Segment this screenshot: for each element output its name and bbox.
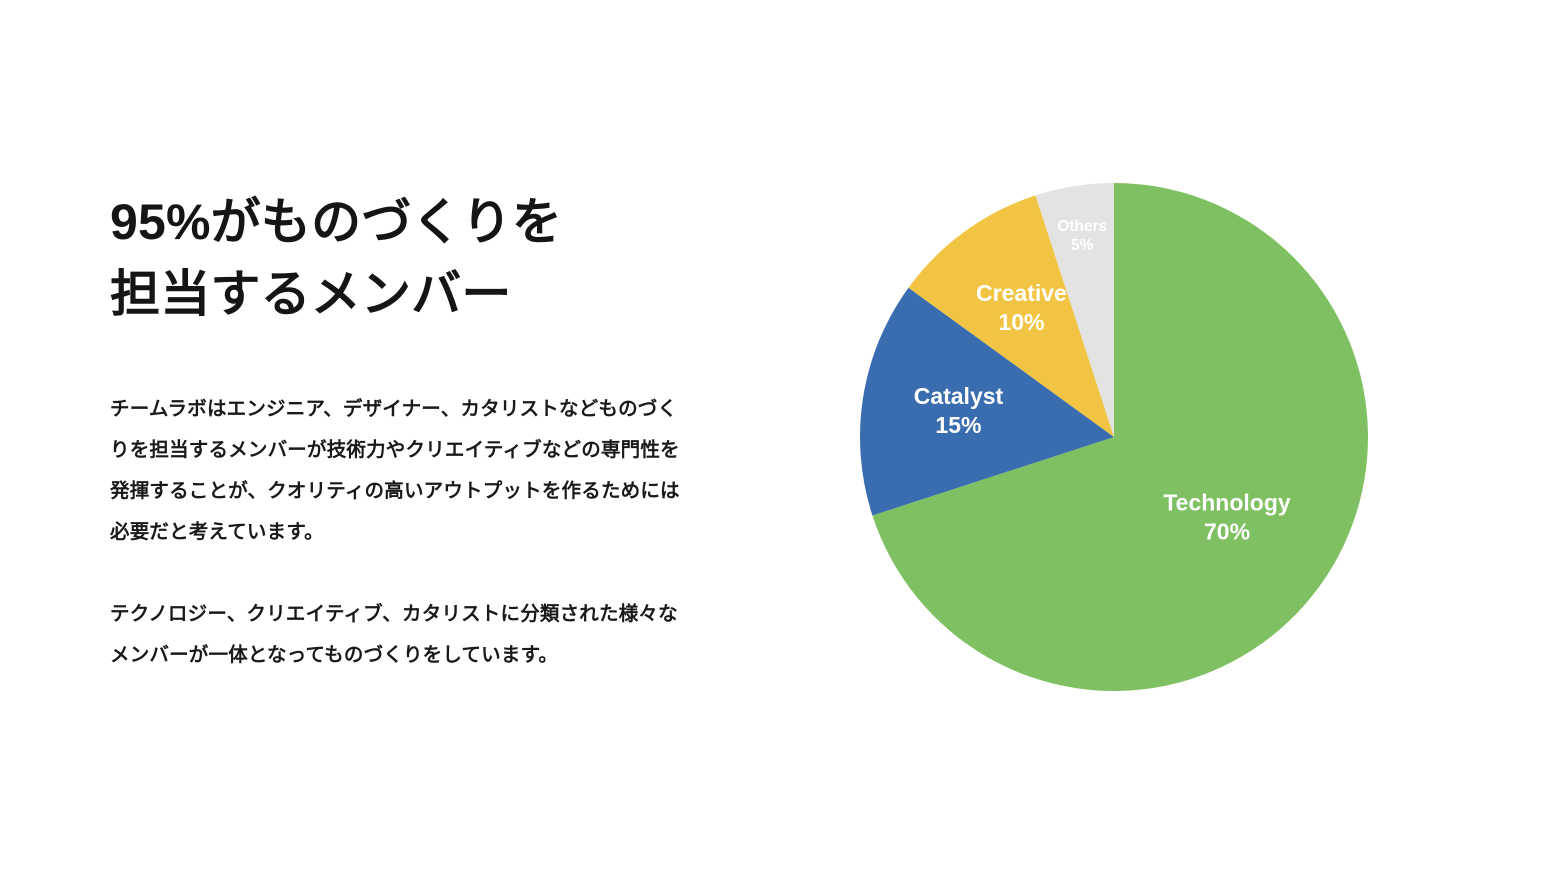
pie-slice-value-technology: 70% bbox=[1204, 519, 1250, 545]
slide-canvas: 95%がものづくりを 担当するメンバー チームラボはエンジニア、デザイナー、カタ… bbox=[0, 0, 1562, 872]
pie-chart: Technology70%Catalyst15%Creative10%Other… bbox=[860, 183, 1368, 691]
text-column: 95%がものづくりを 担当するメンバー チームラボはエンジニア、デザイナー、カタ… bbox=[110, 186, 710, 676]
pie-slice-value-creative: 10% bbox=[998, 309, 1044, 335]
pie-slice-label-creative: Creative bbox=[976, 280, 1067, 306]
pie-slice-label-catalyst: Catalyst bbox=[914, 383, 1004, 409]
body-paragraph-1: チームラボはエンジニア、デザイナー、カタリストなどものづくりを担当するメンバーが… bbox=[110, 389, 690, 553]
pie-slice-label-others: Others bbox=[1057, 218, 1107, 235]
pie-slice-label-technology: Technology bbox=[1163, 490, 1291, 516]
pie-chart-svg: Technology70%Catalyst15%Creative10%Other… bbox=[860, 183, 1368, 691]
page-title: 95%がものづくりを 担当するメンバー bbox=[110, 186, 710, 330]
pie-slice-value-others: 5% bbox=[1071, 237, 1094, 254]
body-paragraph-2: テクノロジー、クリエイティブ、カタリストに分類された様々なメンバーが一体となって… bbox=[110, 594, 690, 676]
pie-slice-value-catalyst: 15% bbox=[935, 412, 981, 438]
